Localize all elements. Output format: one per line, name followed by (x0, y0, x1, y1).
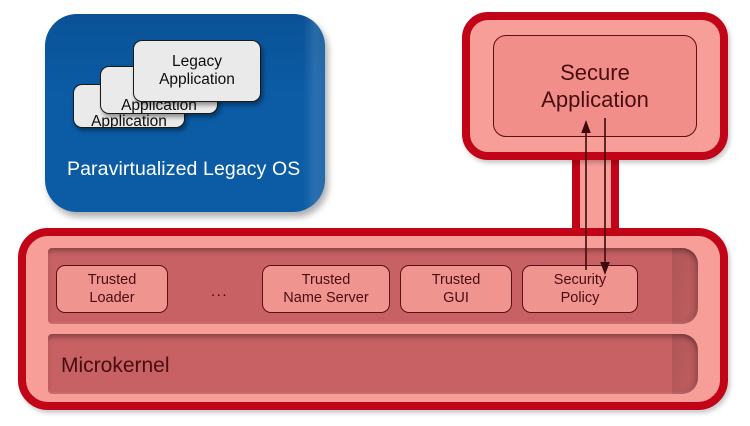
secure-app-upward-arrow (581, 120, 591, 270)
trusted-loader-line2: Loader (89, 290, 134, 306)
legacy-application-card-1-label: Legacy Application (159, 53, 235, 89)
security-policy-line2: Policy (561, 290, 600, 306)
legacy-application-card-1[interactable]: Legacy Application (133, 40, 261, 102)
trusted-loader-box[interactable]: Trusted Loader (56, 265, 168, 313)
secure-app-line1: Secure (560, 60, 630, 85)
trusted-services-band-bevel (672, 248, 698, 324)
legacy-app-1-line2: Application (159, 71, 235, 88)
legacy-app-3-line2: Application (91, 113, 167, 129)
trusted-gui-line2: GUI (443, 290, 469, 306)
trusted-name-server-line1: Trusted (302, 272, 351, 288)
architecture-diagram: Paravirtualized Legacy OS Legacy Applica… (0, 0, 750, 426)
security-policy-downward-arrow (600, 118, 610, 275)
trusted-name-server-label: Trusted Name Server (283, 271, 368, 307)
trusted-loader-line1: Trusted (88, 272, 137, 288)
trusted-name-server-box[interactable]: Trusted Name Server (262, 265, 390, 313)
secure-app-policy-arrows (570, 118, 630, 278)
secure-application-label: Secure Application (541, 59, 649, 113)
microkernel-band-bevel (672, 334, 698, 394)
secure-app-line2: Application (541, 87, 649, 112)
legacy-os-label: Paravirtualized Legacy OS (67, 158, 300, 181)
legacy-os-highlight (303, 14, 325, 212)
services-ellipsis: ... (211, 283, 228, 300)
trusted-gui-box[interactable]: Trusted GUI (400, 265, 512, 313)
legacy-app-1-line1: Legacy (172, 53, 222, 70)
trusted-name-server-line2: Name Server (283, 290, 368, 306)
trusted-gui-label: Trusted GUI (432, 271, 481, 307)
trusted-gui-line1: Trusted (432, 272, 481, 288)
microkernel-label: Microkernel (61, 354, 170, 378)
trusted-loader-label: Trusted Loader (88, 271, 137, 307)
